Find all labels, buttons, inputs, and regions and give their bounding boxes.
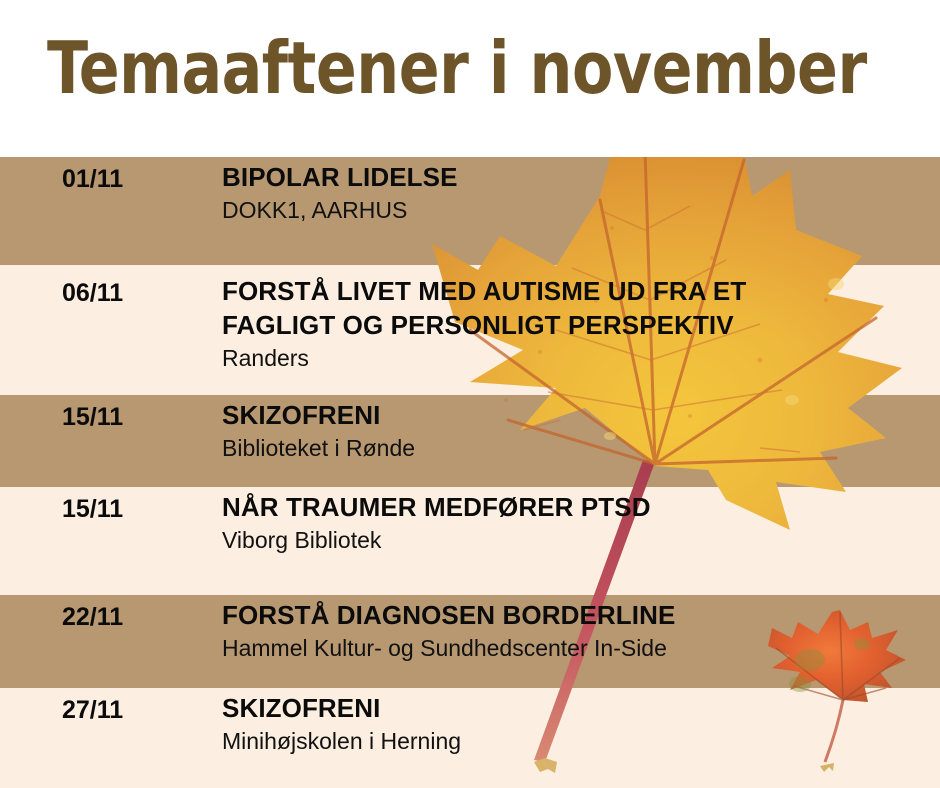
event-title-line1: FORSTÅ DIAGNOSEN BORDERLINE bbox=[222, 600, 675, 630]
event-date: 22/11 bbox=[62, 603, 123, 632]
schedule-row: 01/11 BIPOLAR LIDELSE DOKK1, AARHUS bbox=[0, 157, 940, 265]
event-body: FORSTÅ DIAGNOSEN BORDERLINE Hammel Kultu… bbox=[222, 598, 940, 663]
event-place: Randers bbox=[222, 343, 940, 373]
schedule-row: 27/11 SKIZOFRENI Minihøjskolen i Herning bbox=[0, 688, 940, 788]
schedule-row: 22/11 FORSTÅ DIAGNOSEN BORDERLINE Hammel… bbox=[0, 595, 940, 688]
event-body: SKIZOFRENI Minihøjskolen i Herning bbox=[222, 691, 940, 756]
event-title: SKIZOFRENI bbox=[222, 398, 940, 432]
event-title-line1: SKIZOFRENI bbox=[222, 693, 380, 723]
page-title: Temaaftener i november bbox=[47, 26, 867, 110]
poster-header: Temaaftener i november bbox=[0, 0, 940, 157]
event-title-line2: FAGLIGT OG PERSONLIGT PERSPEKTIV bbox=[222, 308, 940, 342]
event-place: DOKK1, AARHUS bbox=[222, 195, 940, 225]
schedule-row: 15/11 SKIZOFRENI Biblioteket i Rønde bbox=[0, 395, 940, 487]
event-place: Hammel Kultur- og Sundhedscenter In-Side bbox=[222, 633, 940, 663]
event-title: FORSTÅ DIAGNOSEN BORDERLINE bbox=[222, 598, 940, 632]
event-place: Biblioteket i Rønde bbox=[222, 433, 940, 463]
event-date: 27/11 bbox=[62, 696, 123, 725]
event-title-line1: SKIZOFRENI bbox=[222, 400, 380, 430]
event-title: SKIZOFRENI bbox=[222, 691, 940, 725]
event-date: 01/11 bbox=[62, 165, 123, 194]
event-date: 15/11 bbox=[62, 403, 123, 432]
schedule-row: 06/11 FORSTÅ LIVET MED AUTISME UD FRA ET… bbox=[0, 265, 940, 395]
event-title: BIPOLAR LIDELSE bbox=[222, 160, 940, 194]
event-place: Minihøjskolen i Herning bbox=[222, 726, 940, 756]
event-body: FORSTÅ LIVET MED AUTISME UD FRA ET FAGLI… bbox=[222, 274, 940, 373]
poster-canvas: 01/11 BIPOLAR LIDELSE DOKK1, AARHUS 06/1… bbox=[0, 0, 940, 788]
schedule-row: 15/11 NÅR TRAUMER MEDFØRER PTSD Viborg B… bbox=[0, 487, 940, 595]
event-title: FORSTÅ LIVET MED AUTISME UD FRA ET FAGLI… bbox=[222, 274, 940, 342]
event-title: NÅR TRAUMER MEDFØRER PTSD bbox=[222, 490, 940, 524]
event-body: BIPOLAR LIDELSE DOKK1, AARHUS bbox=[222, 160, 940, 225]
event-place: Viborg Bibliotek bbox=[222, 525, 940, 555]
event-body: NÅR TRAUMER MEDFØRER PTSD Viborg Bibliot… bbox=[222, 490, 940, 555]
event-title-line1: BIPOLAR LIDELSE bbox=[222, 162, 458, 192]
event-title-line1: NÅR TRAUMER MEDFØRER PTSD bbox=[222, 492, 651, 522]
event-title-line1: FORSTÅ LIVET MED AUTISME UD FRA ET bbox=[222, 276, 746, 306]
event-body: SKIZOFRENI Biblioteket i Rønde bbox=[222, 398, 940, 463]
event-date: 06/11 bbox=[62, 279, 123, 308]
event-date: 15/11 bbox=[62, 495, 123, 524]
